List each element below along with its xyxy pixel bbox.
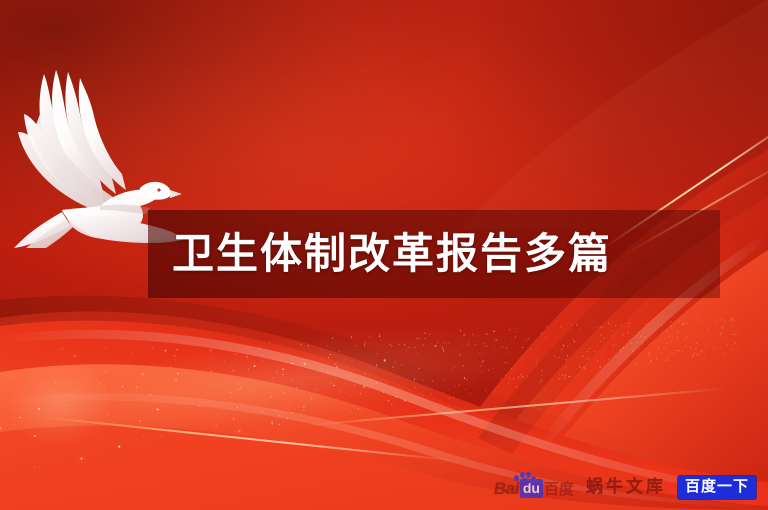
baidu-search-button[interactable]: 百度一下 [678, 476, 756, 499]
baidu-logo[interactable]: Bai du 百度 [494, 475, 574, 499]
baidu-chinese-text: 百度 [544, 480, 574, 499]
site-name-watermark: 蜗牛文库 [586, 477, 666, 497]
banner-image: 卫生体制改革报告多篇 Bai du 百度 蜗牛文库 百度一下 [0, 0, 768, 510]
page-title: 卫生体制改革报告多篇 [148, 210, 720, 298]
paw-print-icon [514, 472, 536, 484]
footer-watermark: Bai du 百度 蜗牛文库 百度一下 [494, 474, 756, 500]
